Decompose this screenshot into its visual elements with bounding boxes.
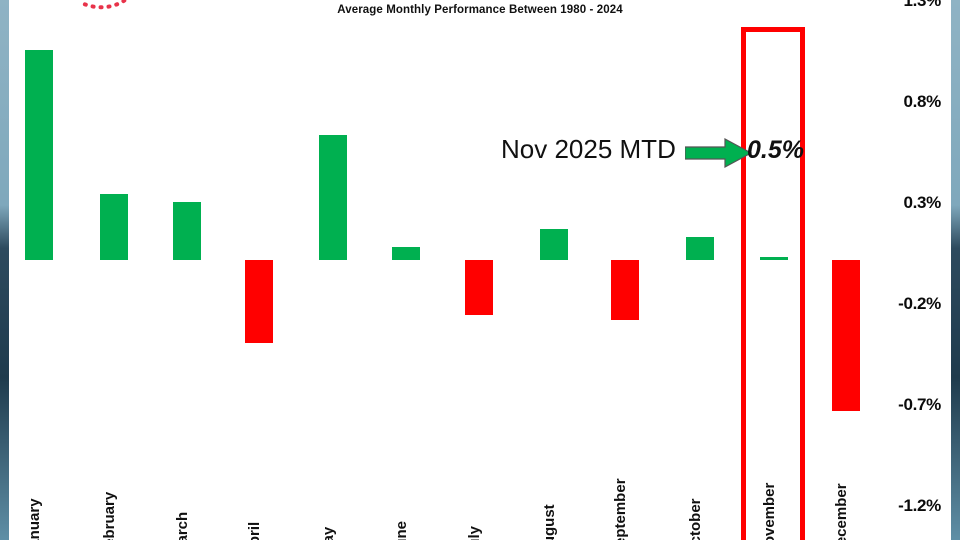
x-tick-label-september: September xyxy=(612,478,629,540)
bar-august xyxy=(540,229,568,260)
y-tick-label-5: -1.2% xyxy=(898,496,941,516)
bar-april xyxy=(245,260,273,343)
y-tick-label-1: 0.8% xyxy=(903,92,941,112)
x-tick-label-october: October xyxy=(687,498,704,540)
annotation-label: Nov 2025 MTD xyxy=(501,134,676,165)
x-tick-label-april: April xyxy=(246,522,263,540)
x-tick-label-august: August xyxy=(541,504,558,540)
november-highlight-box xyxy=(741,27,805,540)
y-tick-label-4: -0.7% xyxy=(898,395,941,415)
bar-january xyxy=(25,50,53,260)
x-tick-label-february: February xyxy=(101,492,118,540)
bar-march xyxy=(173,202,201,260)
y-tick-label-3: -0.2% xyxy=(898,294,941,314)
x-tick-label-january: January xyxy=(26,498,43,540)
bar-october xyxy=(686,237,714,260)
chart-plot-area: 1.3%0.8%0.3%-0.2%-0.7%-1.2% JanuaryFebru… xyxy=(9,0,951,540)
x-tick-label-december: December xyxy=(833,483,850,540)
y-tick-label-2: 0.3% xyxy=(903,193,941,213)
x-tick-label-may: May xyxy=(320,527,337,540)
annotation-value: 0.5% xyxy=(747,136,804,165)
bar-december xyxy=(832,260,860,411)
x-tick-label-july: July xyxy=(466,526,483,540)
bar-july xyxy=(465,260,493,315)
x-tick-label-march: March xyxy=(174,512,191,540)
y-tick-label-0: 1.3% xyxy=(903,0,941,11)
right-arrow-icon xyxy=(685,138,755,168)
x-tick-label-june: June xyxy=(393,521,410,540)
bar-september xyxy=(611,260,639,320)
bar-february xyxy=(100,194,128,260)
right-border-accent xyxy=(951,0,960,540)
bar-may xyxy=(319,135,347,260)
left-border-accent xyxy=(0,0,9,540)
bar-june xyxy=(392,247,420,260)
chart-screenshot: CHARTS Average Monthly Performance Betwe… xyxy=(0,0,960,540)
